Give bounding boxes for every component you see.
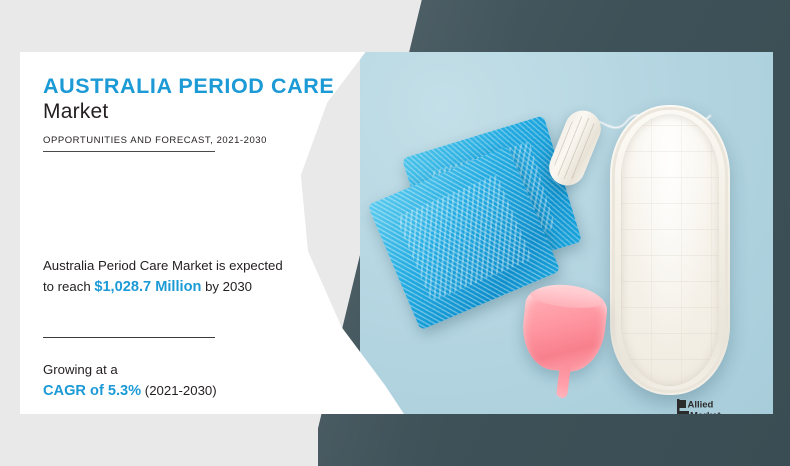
content-card-inner: AUSTRALIA PERIOD CARE Market OPPORTUNITI… (43, 52, 343, 414)
logo-line-2: Market (690, 411, 721, 415)
market-value-statement: Australia Period Care Market is expected… (43, 255, 293, 300)
kicker-divider (43, 151, 215, 152)
period-care-products-photo: Allied Market Research (360, 52, 773, 414)
page-title-sub: Market (43, 100, 108, 124)
logo-line-1: Allied (688, 400, 714, 411)
report-kicker: OPPORTUNITIES AND FORECAST, 2021-2030 (43, 135, 267, 146)
growth-statement: Growing at a CAGR of 5.3% (2021-2030) (43, 360, 313, 403)
section-divider (43, 337, 215, 338)
pad-emboss-texture (396, 174, 533, 302)
sanitary-pad-edge (612, 107, 728, 393)
market-value-figure: $1,028.7 Million (94, 279, 201, 295)
allied-market-research-logo: Allied Market Research (677, 399, 749, 414)
cagr-period: (2021-2030) (145, 383, 217, 398)
page-title-main: AUSTRALIA PERIOD CARE (43, 74, 334, 99)
cagr-figure: CAGR of 5.3% (43, 383, 141, 399)
report-banner: Allied Market Research AUSTRALIA PERIOD … (0, 0, 790, 466)
sanitary-pad-icon (610, 105, 730, 395)
growth-lead: Growing at a (43, 362, 118, 377)
market-value-trail: by 2030 (201, 279, 252, 294)
